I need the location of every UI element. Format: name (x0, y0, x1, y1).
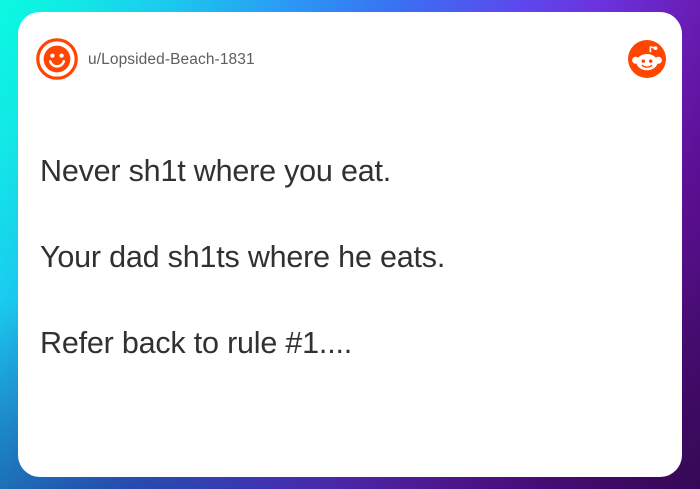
post-text-body: Never sh1t where you eat. Your dad sh1ts… (40, 152, 652, 362)
reddit-post-card: u/Lopsided-Beach-1831 (18, 12, 682, 477)
post-line: Refer back to rule #1.... (40, 324, 652, 362)
post-header: u/Lopsided-Beach-1831 (18, 12, 682, 98)
post-line: Your dad sh1ts where he eats. (40, 238, 652, 276)
screenshot-root: u/Lopsided-Beach-1831 (0, 0, 700, 489)
post-author-username[interactable]: u/Lopsided-Beach-1831 (88, 50, 255, 70)
post-line: Never sh1t where you eat. (40, 152, 652, 190)
reddit-snoo-icon[interactable] (628, 40, 666, 78)
smiley-avatar-icon[interactable] (36, 38, 78, 80)
